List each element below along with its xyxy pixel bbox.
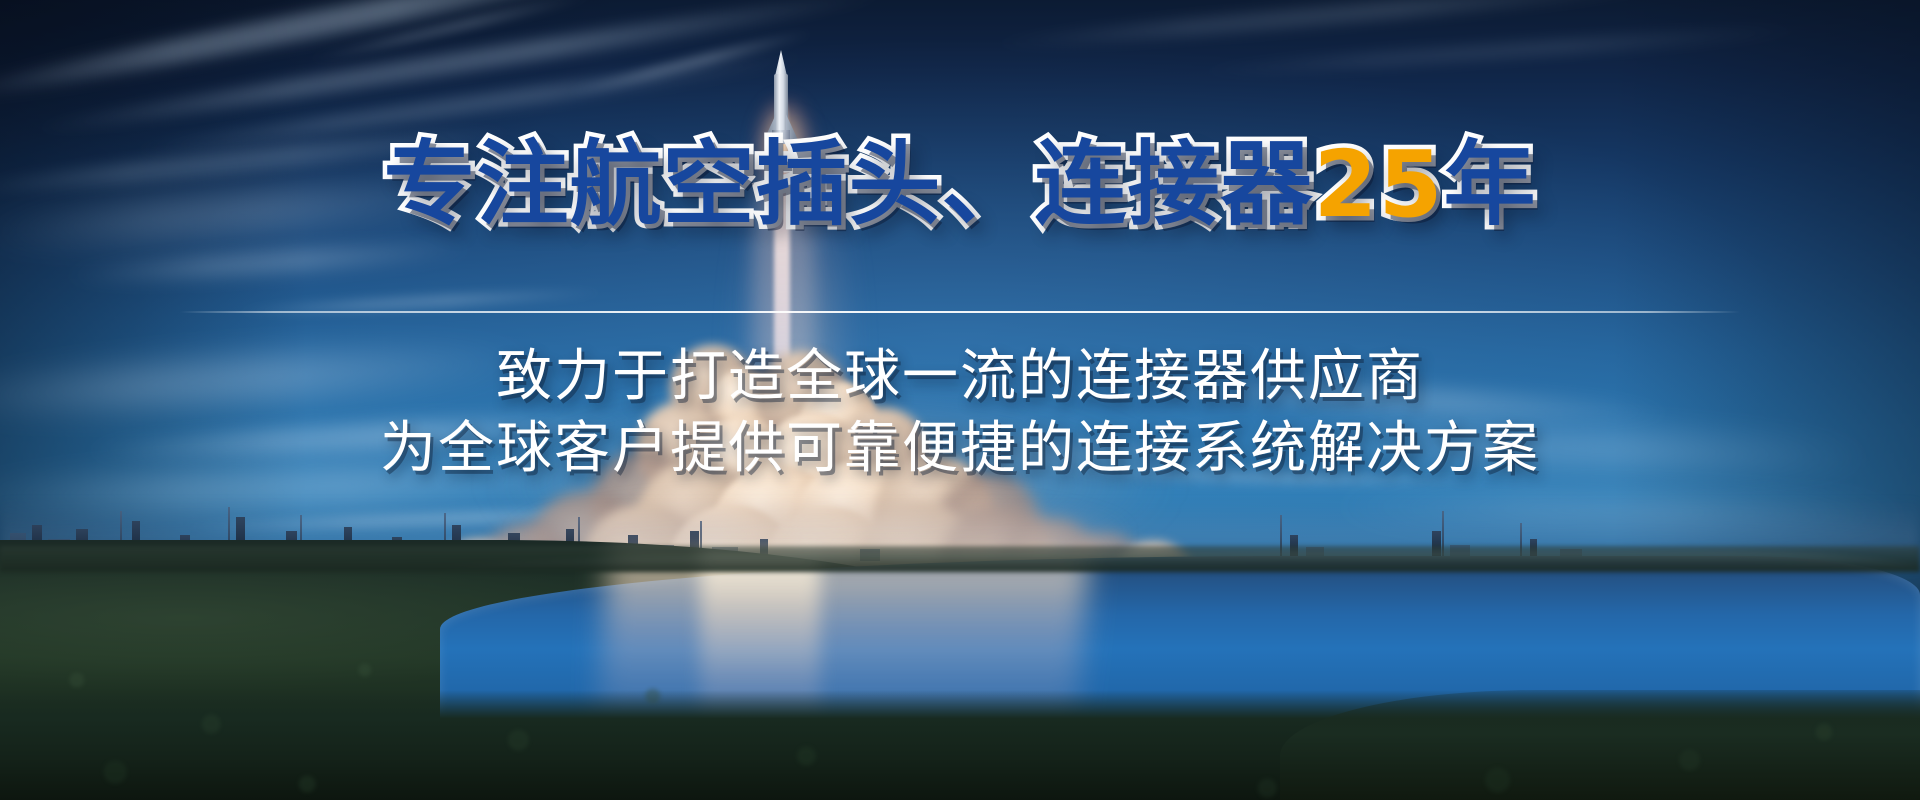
subtitle-line-2: 为全球客户提供可靠便捷的连接系统解决方案 [380, 413, 1540, 485]
headline: 专注航空插头、连接器25年 [383, 138, 1536, 232]
headline-divider [180, 311, 1740, 313]
subtitle-line-1: 致力于打造全球一流的连接器供应商 [380, 341, 1540, 413]
headline-part2: 年 [1444, 131, 1537, 238]
headline-years: 25 [1313, 131, 1443, 238]
headline-part1: 专注航空插头、连接器 [383, 131, 1313, 238]
banner-content: 专注航空插头、连接器25年 致力于打造全球一流的连接器供应商 为全球客户提供可靠… [0, 0, 1920, 800]
hero-banner: 专注航空插头、连接器25年 致力于打造全球一流的连接器供应商 为全球客户提供可靠… [0, 0, 1920, 800]
subtitle: 致力于打造全球一流的连接器供应商 为全球客户提供可靠便捷的连接系统解决方案 [380, 341, 1540, 484]
